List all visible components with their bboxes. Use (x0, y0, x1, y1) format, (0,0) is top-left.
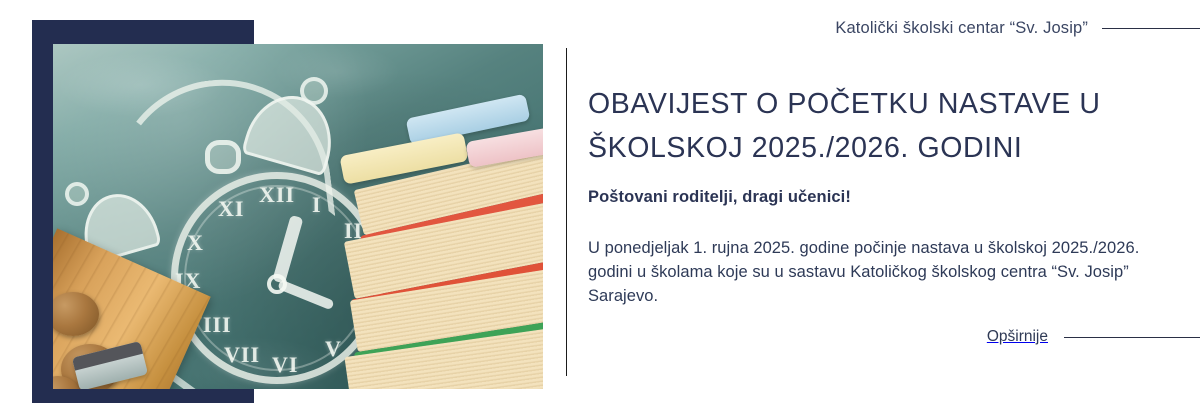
read-more-link[interactable]: Opširnije (987, 328, 1200, 346)
media-block: XII I II III IIII V VI VII VIII IX X XI (0, 0, 560, 420)
notice-card: XII I II III IIII V VI VII VIII IX X XI (0, 0, 1200, 420)
eyebrow-rule (1102, 28, 1200, 29)
eyebrow-label: Katolički školski centar “Sv. Josip” (835, 19, 1088, 38)
eyebrow: Katolički školski centar “Sv. Josip” (835, 19, 1200, 38)
article-body: U ponedjeljak 1. rujna 2025. godine poči… (588, 236, 1180, 308)
book-stack (313, 104, 543, 389)
clock-knob-left-icon (65, 182, 89, 206)
page-title: OBAVIJEST O POČETKU NASTAVE U ŠKOLSKOJ 2… (588, 82, 1148, 170)
vertical-divider (566, 48, 567, 376)
clock-knob-right-icon (300, 77, 328, 105)
clock-numeral: VI (272, 352, 298, 378)
read-more-rule (1064, 337, 1200, 338)
article-content: Katolički školski centar “Sv. Josip” OBA… (588, 0, 1200, 420)
clock-numeral: XII (259, 182, 295, 208)
clock-crown-icon (205, 140, 241, 174)
clock-numeral: X (187, 230, 204, 256)
article-photo: XII I II III IIII V VI VII VIII IX X XI (53, 44, 543, 389)
clock-center-pin-icon (267, 274, 287, 294)
read-more-label: Opširnije (987, 328, 1048, 346)
article-lede: Poštovani roditelji, dragi učenici! (588, 188, 851, 207)
clock-numeral: VII (224, 342, 260, 368)
clock-numeral: XI (218, 196, 244, 222)
